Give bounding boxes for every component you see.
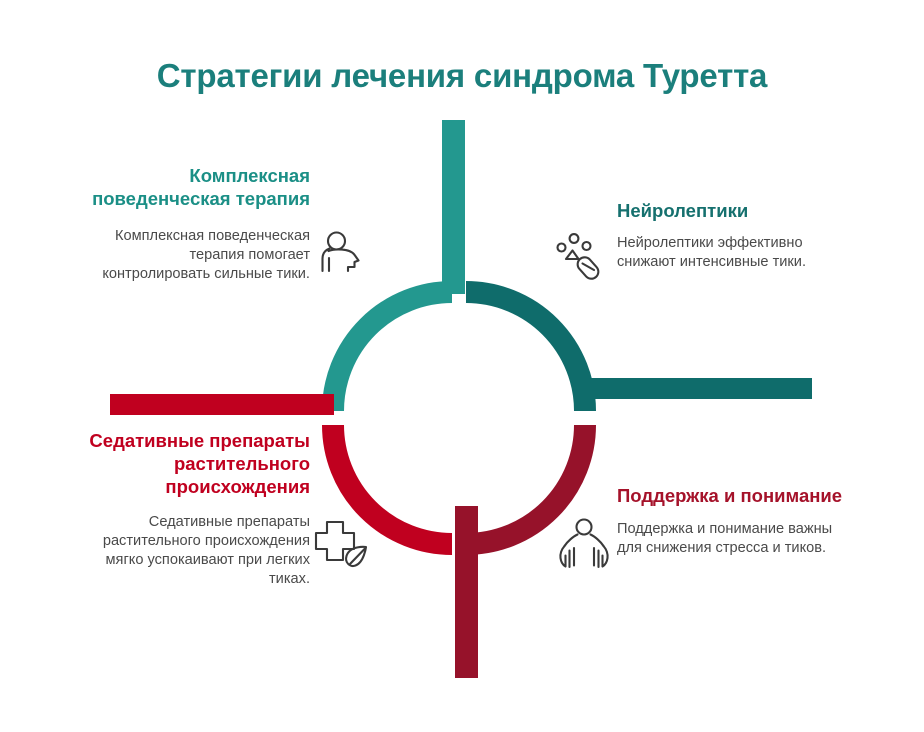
quadrant-neuroleptics: Нейролептики Нейролептики эффективно сни…	[617, 200, 847, 272]
arc-top-right	[466, 292, 585, 411]
quadrant-support-understanding: Поддержка и понимание Поддержка и понима…	[617, 485, 861, 558]
infographic-canvas: Стратегии лечения синдрома Туретта Компл…	[0, 0, 924, 732]
quadrant-heading: Поддержка и понимание	[617, 485, 861, 508]
supporting-hands-person-icon	[556, 515, 612, 571]
quadrant-heading: Седативные препараты растительного проис…	[78, 430, 310, 499]
circular-diagram	[0, 0, 924, 732]
stem-top	[442, 120, 465, 294]
pills-capsule-icon	[553, 228, 609, 284]
quadrant-heading: Комплексная поведенческая терапия	[88, 165, 310, 211]
stem-right	[584, 378, 812, 399]
quadrant-body: Нейролептики эффективно снижают интенсив…	[617, 234, 847, 272]
arc-top-left	[333, 292, 452, 411]
quadrant-body: Комплексная поведенческая терапия помога…	[88, 227, 310, 284]
head-mind-icon	[312, 226, 368, 282]
quadrant-behavioral-therapy: Комплексная поведенческая терапия Компле…	[88, 165, 310, 284]
medical-cross-leaf-icon	[310, 516, 372, 574]
quadrant-body: Поддержка и понимание важны для снижения…	[617, 520, 861, 558]
stem-bottom	[455, 506, 478, 678]
quadrant-body: Седативные препараты растительного проис…	[78, 513, 310, 589]
quadrant-herbal-sedatives: Седативные препараты растительного проис…	[78, 430, 310, 589]
quadrant-heading: Нейролептики	[617, 200, 847, 223]
stem-left	[110, 394, 334, 415]
